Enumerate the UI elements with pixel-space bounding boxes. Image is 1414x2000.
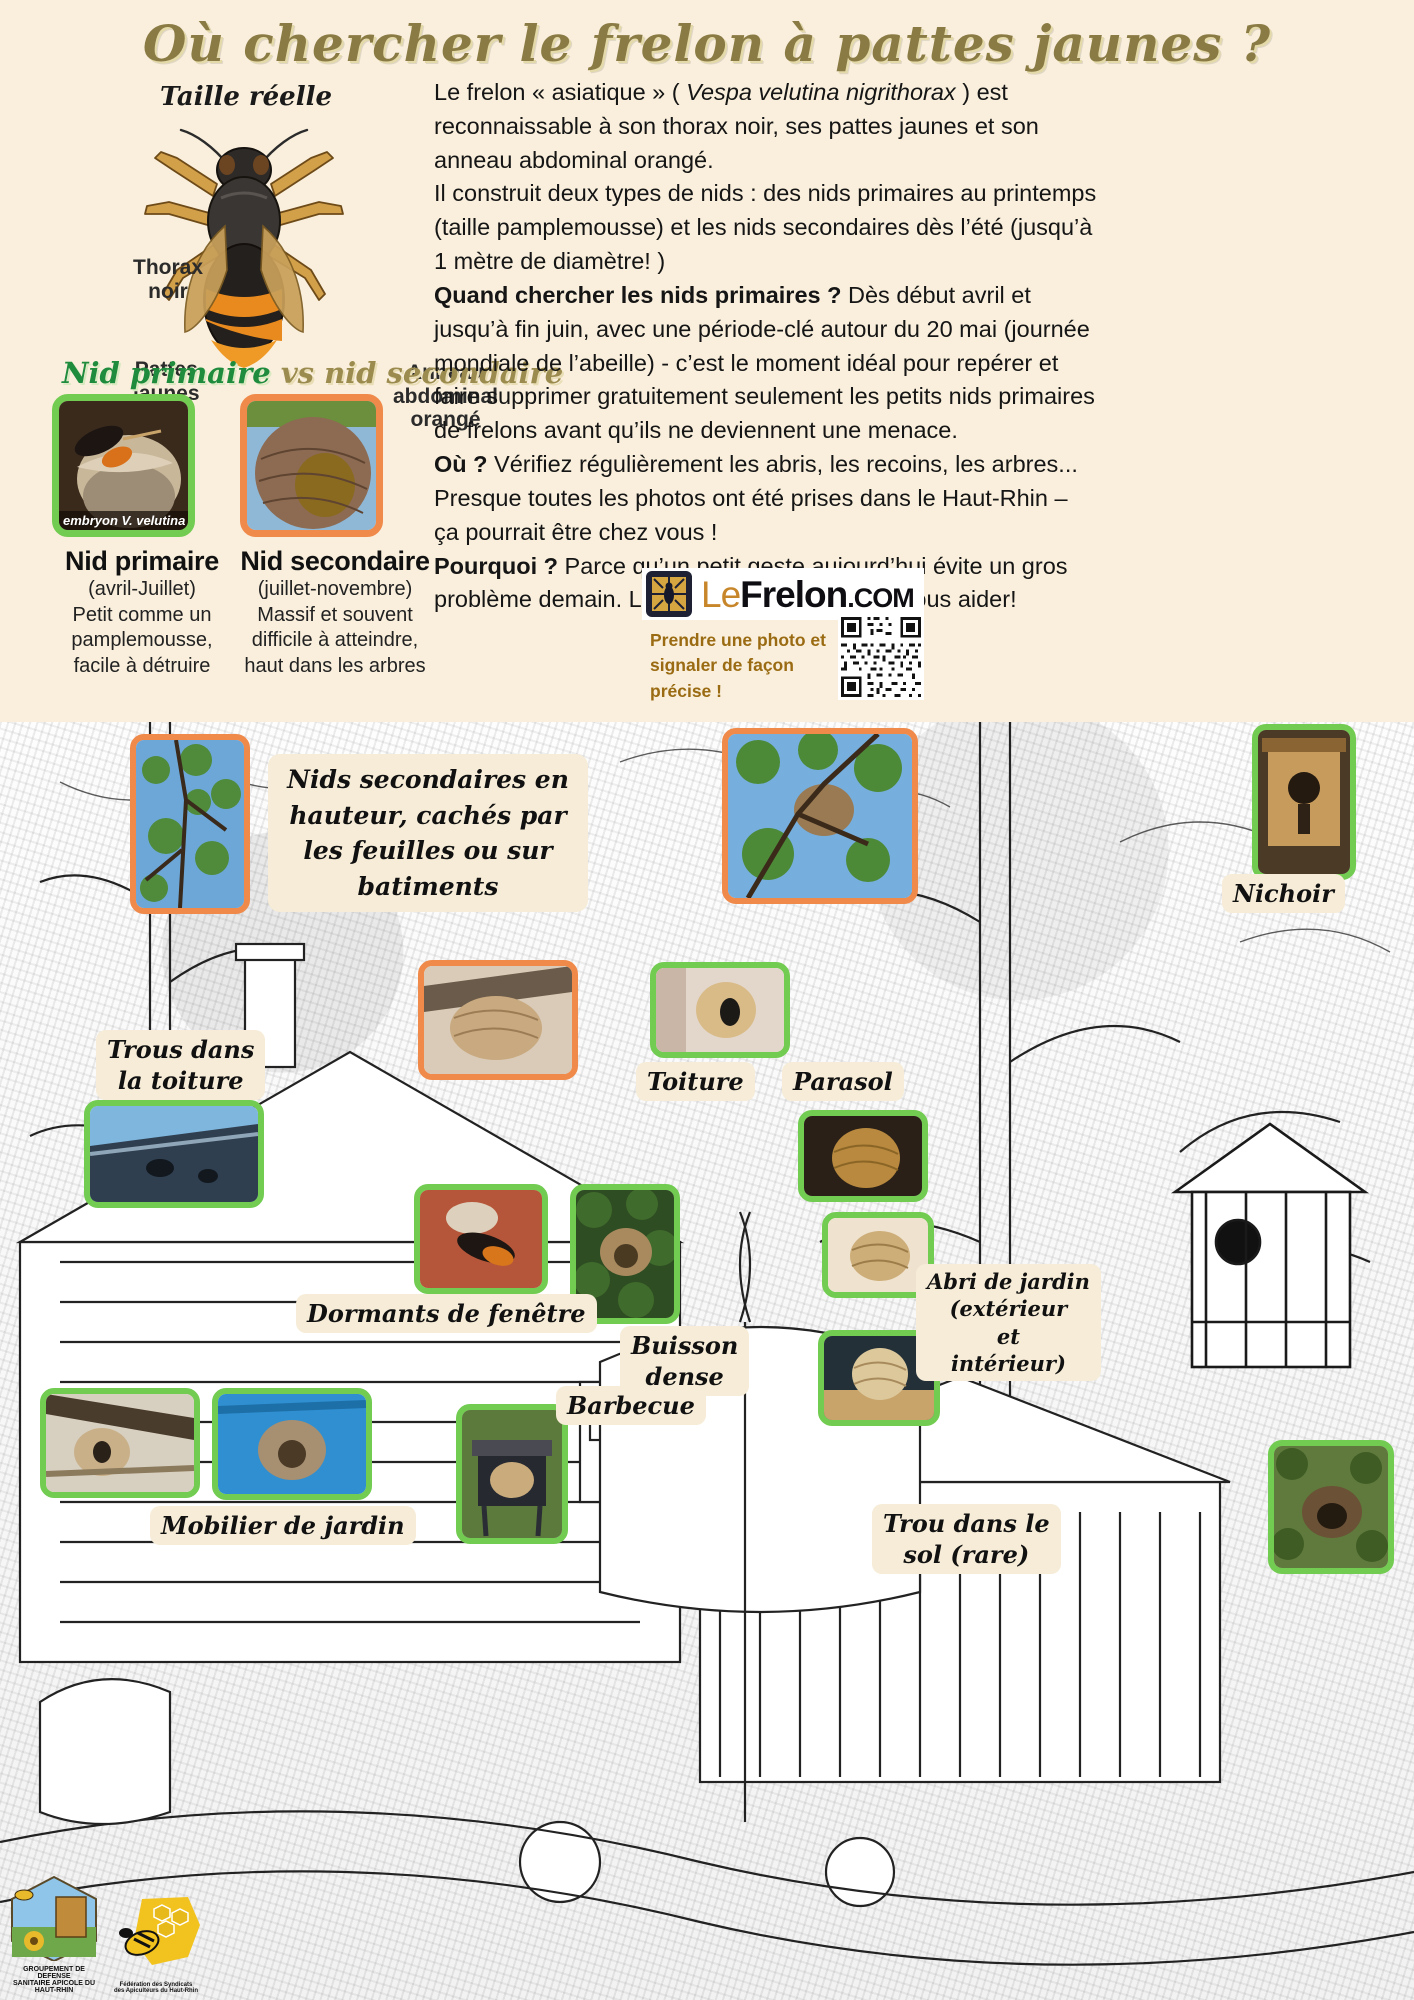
photo-dormants-fenetre bbox=[414, 1184, 548, 1294]
body-text: Le frelon « asiatique » ( Vespa velutina… bbox=[434, 76, 1098, 617]
lefrelon-logo[interactable]: LeFrelon.COM bbox=[642, 568, 924, 620]
qr-instruction: Prendre une photo et signaler de façon p… bbox=[650, 628, 840, 704]
gdsa-logo-caption: GROUPEMENT DE DEFENSE SANITAIRE APICOLE … bbox=[8, 1966, 100, 1994]
top-info-section: Où chercher le frelon à pattes jaunes ? … bbox=[0, 0, 1414, 722]
photo-art-tree-1 bbox=[136, 740, 244, 908]
brand-frelon: Frelon bbox=[740, 574, 847, 615]
lefrelon-mark-icon bbox=[646, 571, 692, 617]
p1-part-a: Le frelon « asiatique » ( bbox=[434, 79, 686, 105]
scene-headline: Nids secondaires en hauteur, cachés par … bbox=[268, 754, 588, 912]
photo-art-nest-wall bbox=[424, 966, 572, 1074]
hornet-illustration bbox=[133, 118, 363, 380]
photo-trous-toiture bbox=[84, 1100, 264, 1208]
nest-compare-heading-green: Nid primaire bbox=[62, 356, 271, 390]
nest-card-secondary: Nid secondaire (juillet-novembre) Massif… bbox=[240, 394, 430, 679]
tag-trou-sol: Trou dans le sol (rare) bbox=[872, 1504, 1061, 1574]
photo-art-dormants bbox=[420, 1190, 542, 1288]
nest-photo-primary: embryon V. velutina bbox=[52, 394, 195, 537]
nest-card-primary: embryon V. velutina Nid primaire (avril-… bbox=[52, 394, 232, 679]
actual-size-label: Taille réelle bbox=[160, 82, 332, 112]
photo-nichoir bbox=[1252, 724, 1356, 880]
photo-art-trou-sol bbox=[1274, 1446, 1388, 1568]
photo-trou-sol bbox=[1268, 1440, 1394, 1574]
fsa68-logo-caption: Fédération des Syndicats des Apiculteurs… bbox=[108, 1982, 204, 1994]
photo-art-barbecue bbox=[462, 1410, 562, 1538]
species-name: Vespa velutina nigrithorax bbox=[686, 79, 956, 105]
lefrelon-mark-inner bbox=[652, 577, 686, 611]
secondary-nest-photo-art bbox=[247, 401, 377, 531]
tag-parasol: Parasol bbox=[782, 1062, 904, 1101]
qr-code[interactable] bbox=[838, 614, 924, 700]
photo-nest-in-tree-1 bbox=[130, 734, 250, 914]
when-heading: Quand chercher les nids primaires ? bbox=[434, 282, 841, 308]
tag-dormants-fenetre: Dormants de fenêtre bbox=[296, 1294, 597, 1333]
photo-mobilier-2 bbox=[212, 1388, 372, 1500]
page-title: Où chercher le frelon à pattes jaunes ? bbox=[0, 14, 1414, 73]
why-heading: Pourquoi ? bbox=[434, 553, 558, 579]
hornet-diagram: Thorax noir Pattes jaunes Anneau abdomin… bbox=[75, 118, 415, 383]
brand-le: Le bbox=[701, 574, 740, 615]
tag-abri-jardin: Abri de jardin (extérieur et intérieur) bbox=[916, 1264, 1101, 1381]
photo-barbecue bbox=[456, 1404, 568, 1544]
tag-toiture: Toiture bbox=[636, 1062, 755, 1101]
brand-com: .COM bbox=[847, 583, 914, 613]
nest-title-primary: Nid primaire bbox=[52, 546, 232, 577]
paragraph-description: Le frelon « asiatique » ( Vespa velutina… bbox=[434, 76, 1098, 177]
tag-nichoir: Nichoir bbox=[1222, 874, 1345, 913]
where-heading: Où ? bbox=[434, 451, 488, 477]
photo-parasol bbox=[798, 1110, 928, 1202]
tag-barbecue: Barbecue bbox=[556, 1386, 706, 1425]
hornet-mark-icon bbox=[652, 577, 686, 611]
nest-title-secondary: Nid secondaire bbox=[240, 546, 430, 577]
photo-art-mobilier-1 bbox=[46, 1394, 194, 1492]
tag-trous-toiture: Trous dans la toiture bbox=[96, 1030, 265, 1100]
where-text: Vérifiez régulièrement les abris, les re… bbox=[434, 451, 1078, 545]
fsa68-logo-icon bbox=[108, 1891, 204, 1977]
tag-mobilier-jardin: Mobilier de jardin bbox=[150, 1506, 416, 1545]
gdsa-logo-icon bbox=[8, 1875, 100, 1961]
nest-photo-caption-primary: embryon V. velutina bbox=[59, 511, 188, 530]
photo-mobilier-1 bbox=[40, 1388, 200, 1498]
qr-code-icon bbox=[838, 614, 924, 700]
logo-fsa68: Fédération des Syndicats des Apiculteurs… bbox=[108, 1891, 204, 1994]
photo-art-trous-toiture bbox=[90, 1106, 258, 1202]
photo-nest-in-tree-2 bbox=[722, 728, 918, 904]
nest-period-primary: (avril-Juillet) bbox=[52, 577, 232, 603]
photo-art-parasol bbox=[804, 1116, 922, 1196]
photo-art-abri-ext bbox=[828, 1218, 928, 1292]
photo-nest-on-wall bbox=[418, 960, 578, 1080]
photo-art-tree-2 bbox=[728, 734, 912, 898]
poster-root: Où chercher le frelon à pattes jaunes ? … bbox=[0, 0, 1414, 2000]
photo-toiture bbox=[650, 962, 790, 1058]
photo-art-toiture bbox=[656, 968, 784, 1052]
nest-desc-primary: Petit comme un pamplemousse, facile à dé… bbox=[52, 603, 232, 680]
photo-art-mobilier-2 bbox=[218, 1394, 366, 1494]
logo-gdsa: GROUPEMENT DE DEFENSE SANITAIRE APICOLE … bbox=[8, 1875, 100, 1994]
nest-period-secondary: (juillet-novembre) bbox=[240, 577, 430, 603]
nest-photo-secondary bbox=[240, 394, 383, 537]
garden-scene-section: Nids secondaires en hauteur, cachés par … bbox=[0, 722, 1414, 2000]
label-thorax: Thorax noir bbox=[133, 256, 203, 303]
lefrelon-wordmark: LeFrelon.COM bbox=[701, 576, 914, 613]
paragraph-where: Où ? Vérifiez régulièrement les abris, l… bbox=[434, 448, 1098, 549]
paragraph-when: Quand chercher les nids primaires ? Dès … bbox=[434, 279, 1098, 448]
paragraph-nests: Il construit deux types de nids : des ni… bbox=[434, 177, 1098, 278]
nest-desc-secondary: Massif et souvent difficile à atteindre,… bbox=[240, 603, 430, 680]
photo-art-nichoir bbox=[1258, 730, 1350, 874]
